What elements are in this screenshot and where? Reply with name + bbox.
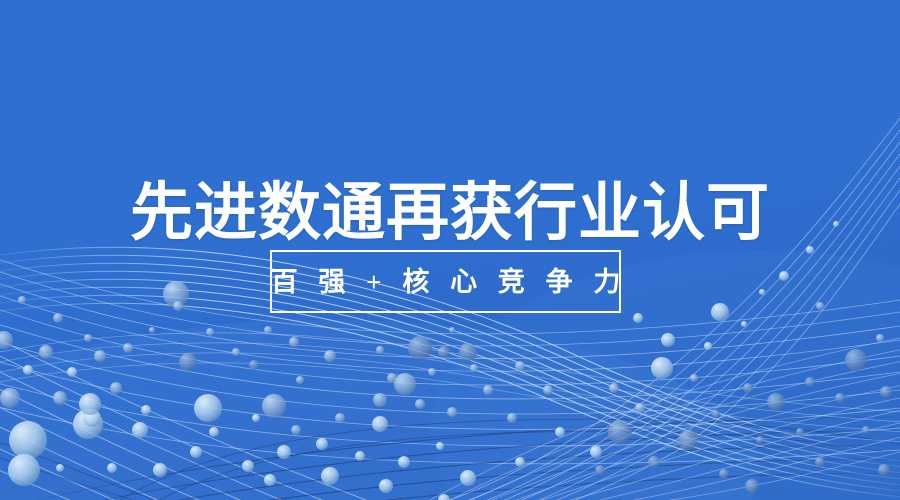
background-decoration xyxy=(0,0,900,500)
promo-banner: 先进数通再获行业认可 百 强 + 核 心 竞 争 力 xyxy=(0,0,900,500)
